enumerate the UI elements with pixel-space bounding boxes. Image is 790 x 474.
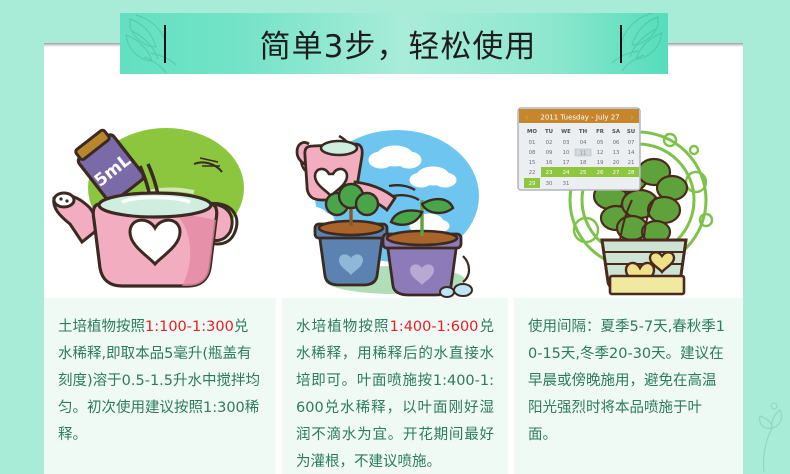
svg-text:‹: ‹ xyxy=(525,113,529,123)
instruction-panel-2: 水培植物按照1:400-1:600兑水稀释，用稀释后的水直接水培即可。叶面喷施按… xyxy=(282,298,508,474)
frame-right-band xyxy=(743,0,790,474)
svg-text:14: 14 xyxy=(628,150,635,156)
svg-text:12: 12 xyxy=(597,150,604,156)
calendar-widget: 2011 Tuesday - July 27 ‹ › MOTUWE THFRSA… xyxy=(518,108,640,190)
svg-text:01: 01 xyxy=(529,140,536,146)
svg-text:31: 31 xyxy=(563,181,570,187)
svg-text:23: 23 xyxy=(546,170,553,176)
svg-text:18: 18 xyxy=(580,160,587,166)
svg-text:22: 22 xyxy=(529,170,536,176)
svg-text:21: 21 xyxy=(628,160,635,166)
svg-text:MO: MO xyxy=(527,129,537,135)
svg-text:04: 04 xyxy=(580,140,587,146)
svg-text:07: 07 xyxy=(628,140,635,146)
svg-text:11: 11 xyxy=(580,151,587,157)
svg-text:10: 10 xyxy=(563,150,570,156)
illustration-step-3: 2011 Tuesday - July 27 ‹ › MOTUWE THFRSA… xyxy=(510,100,743,298)
illustration-step-1: 5mL xyxy=(44,100,277,298)
text-part: 兑水稀释,即取本品5毫升(瓶盖有刻度)溶于0.5-1.5升水中搅拌均匀。初次使用… xyxy=(58,319,260,443)
svg-text:29: 29 xyxy=(529,181,536,187)
svg-text:TH: TH xyxy=(579,129,588,135)
page-title: 简单3步，轻松使用 xyxy=(120,13,668,74)
svg-text:2011 Tuesday - July 27: 2011 Tuesday - July 27 xyxy=(540,114,619,122)
svg-text:30: 30 xyxy=(546,181,553,187)
instruction-panel-3: 使用间隔：夏季5-7天,春秋季10-15天,冬季20-30天。建议在早晨或傍晚施… xyxy=(514,298,743,474)
svg-text:SU: SU xyxy=(627,129,635,135)
svg-text:TU: TU xyxy=(545,129,553,135)
svg-text:13: 13 xyxy=(613,150,620,156)
text-part: 水培植物按照 xyxy=(296,319,390,335)
svg-text:02: 02 xyxy=(546,140,553,146)
svg-text:27: 27 xyxy=(613,170,620,176)
title-banner: 简单3步，轻松使用 xyxy=(120,13,668,74)
illustration-row: 5mL xyxy=(44,100,743,298)
ratio-highlight: 1:100-1:300 xyxy=(145,319,234,335)
svg-text:06: 06 xyxy=(613,140,620,146)
svg-text:05: 05 xyxy=(597,140,604,146)
text-part: 土培植物按照 xyxy=(58,319,145,335)
promo-page: 简单3步，轻松使用 5mL xyxy=(0,0,790,474)
frame-left-band xyxy=(0,0,44,474)
svg-text:15: 15 xyxy=(529,160,536,166)
svg-text:SA: SA xyxy=(612,129,621,135)
calendar-with-clover-plant-icon: 2011 Tuesday - July 27 ‹ › MOTUWE THFRSA… xyxy=(510,100,743,298)
instruction-panel-1: 土培植物按照1:100-1:300兑水稀释,即取本品5毫升(瓶盖有刻度)溶于0.… xyxy=(44,298,276,474)
text-part: 兑水稀释，用稀释后的水直接水培即可。叶面喷施按1:400-1:600兑水稀释，以… xyxy=(296,319,494,470)
instruction-text-1: 土培植物按照1:100-1:300兑水稀释,即取本品5毫升(瓶盖有刻度)溶于0.… xyxy=(58,314,262,449)
ratio-highlight: 1:400-1:600 xyxy=(390,319,479,335)
svg-text:03: 03 xyxy=(563,140,570,146)
svg-text:17: 17 xyxy=(563,160,570,166)
svg-text:FR: FR xyxy=(596,129,605,135)
watering-plants-pots-icon xyxy=(277,100,510,298)
svg-text:24: 24 xyxy=(563,170,570,176)
svg-text:08: 08 xyxy=(529,150,536,156)
text-part: 使用间隔：夏季5-7天,春秋季10-15天,冬季20-30天。建议在早晨或傍晚施… xyxy=(528,319,725,443)
watering-can-with-bottle-icon: 5mL xyxy=(44,100,277,298)
svg-text:25: 25 xyxy=(580,170,587,176)
svg-text:19: 19 xyxy=(597,160,604,166)
illustration-step-2 xyxy=(277,100,510,298)
svg-text:09: 09 xyxy=(546,150,553,156)
instruction-text-2: 水培植物按照1:400-1:600兑水稀释，用稀释后的水直接水培即可。叶面喷施按… xyxy=(296,314,494,474)
svg-text:20: 20 xyxy=(613,160,620,166)
svg-text:26: 26 xyxy=(597,170,604,176)
svg-text:28: 28 xyxy=(628,170,635,176)
plant-line-art-icon xyxy=(744,394,788,474)
instruction-text-3: 使用间隔：夏季5-7天,春秋季10-15天,冬季20-30天。建议在早晨或傍晚施… xyxy=(528,314,729,449)
instruction-panels: 土培植物按照1:100-1:300兑水稀释,即取本品5毫升(瓶盖有刻度)溶于0.… xyxy=(44,298,743,474)
svg-text:WE: WE xyxy=(561,129,571,135)
svg-text:16: 16 xyxy=(546,160,553,166)
svg-text:›: › xyxy=(630,113,634,123)
